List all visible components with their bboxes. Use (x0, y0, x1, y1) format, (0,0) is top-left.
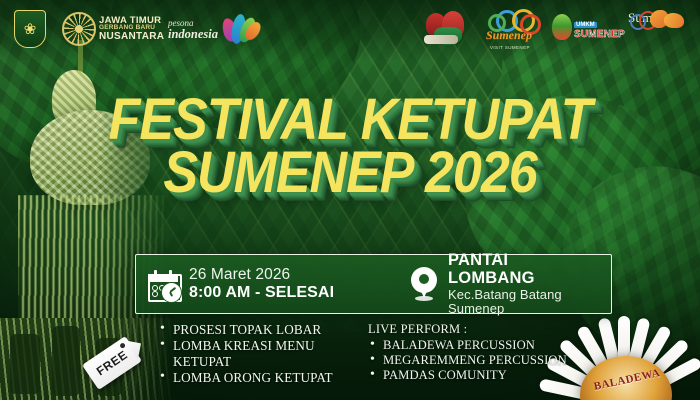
date-time-block: 26 Maret 2026 8:00 AM - SELESAI (136, 266, 395, 301)
east-java-shield-icon: ❀ (14, 10, 46, 48)
umkm-flame-icon (552, 14, 572, 40)
live-perform-items: BALADEWA PERCUSSION MEGAREMMENG PERCUSSI… (368, 338, 598, 383)
go-sumenep-word: Sumenep (486, 28, 532, 43)
sumenep-emblem-logo (422, 9, 474, 49)
sumenep-brand-mark: Sumenep (628, 10, 678, 26)
event-venue-sub: Kec.Batang Batang Sumenep (448, 288, 599, 317)
umkm-wordmark: UMKM SUMENEP (574, 14, 625, 40)
jawa-timur-wordmark: JAWA TIMUR GERBANG BARU NUSANTARA (99, 16, 164, 43)
live-perform-list: LIVE PERFORM : BALADEWA PERCUSSION MEGAR… (368, 322, 598, 383)
pesona-indonesia-logo: pesona indonesia (168, 12, 261, 48)
event-date: 26 Maret 2026 (189, 266, 334, 283)
pesona-indonesia-wordmark: pesona indonesia (168, 19, 218, 40)
pesona-line2: indonesia (168, 28, 218, 40)
event-poster: BALADEWA ❀ JAWA TIMUR GERBANG BARU NUSAN… (0, 0, 700, 400)
partner-logo-row: ❀ JAWA TIMUR GERBANG BARU NUSANTARA peso… (0, 0, 700, 58)
umkm-sumenep-logo: UMKM SUMENEP (552, 14, 625, 40)
title-line-2: SUMENEP 2026 (0, 146, 700, 201)
list-item: LOMBA ORONG KETUPAT (160, 370, 360, 386)
jawa-timur-line3: NUSANTARA (99, 32, 164, 42)
live-perform-heading: LIVE PERFORM : (368, 322, 598, 337)
list-item: BALADEWA PERCUSSION (368, 338, 598, 353)
go-sumenep-mark: Sumenep VISIT SUMENEP (482, 8, 554, 46)
location-block: PANTAI LOMBANG Kec.Batang Batang Sumenep (395, 251, 611, 317)
wonderful-indonesia-swirl-icon (221, 12, 261, 48)
location-text: PANTAI LOMBANG Kec.Batang Batang Sumenep (448, 251, 599, 317)
list-item: PROSESI TOPAK LOBAR (160, 322, 360, 338)
agenda-items: PROSESI TOPAK LOBAR LOMBA KREASI MENU KE… (160, 322, 360, 385)
event-info-box: 26 Maret 2026 8:00 AM - SELESAI PANTAI L… (135, 254, 612, 314)
umkm-line2: SUMENEP (574, 30, 625, 40)
go-sumenep-logo: Sumenep VISIT SUMENEP (482, 8, 554, 46)
map-pin-icon (409, 267, 439, 301)
calendar-clock-icon (148, 270, 180, 298)
agenda-list: PROSESI TOPAK LOBAR LOMBA KREASI MENU KE… (160, 322, 360, 385)
list-item: MEGAREMMENG PERCUSSION (368, 353, 598, 368)
umkm-line1: UMKM (574, 22, 597, 28)
event-time: 8:00 AM - SELESAI (189, 284, 334, 302)
event-venue: PANTAI LOMBANG (448, 251, 599, 288)
poster-title: FESTIVAL KETUPAT SUMENEP 2026 (0, 96, 700, 198)
sumenep-emblem-icon (422, 9, 474, 49)
east-java-emblem-logo: ❀ (14, 10, 46, 48)
jawa-timur-logo: JAWA TIMUR GERBANG BARU NUSANTARA (62, 12, 164, 46)
list-item: LOMBA KREASI MENU KETUPAT (160, 338, 360, 370)
ship-wheel-icon (62, 12, 96, 46)
date-time-text: 26 Maret 2026 8:00 AM - SELESAI (189, 266, 334, 301)
sumenep-brand-logo: Sumenep (628, 10, 678, 26)
list-item: PAMDAS COMUNITY (368, 368, 598, 383)
go-sumenep-sub: VISIT SUMENEP (490, 45, 530, 50)
